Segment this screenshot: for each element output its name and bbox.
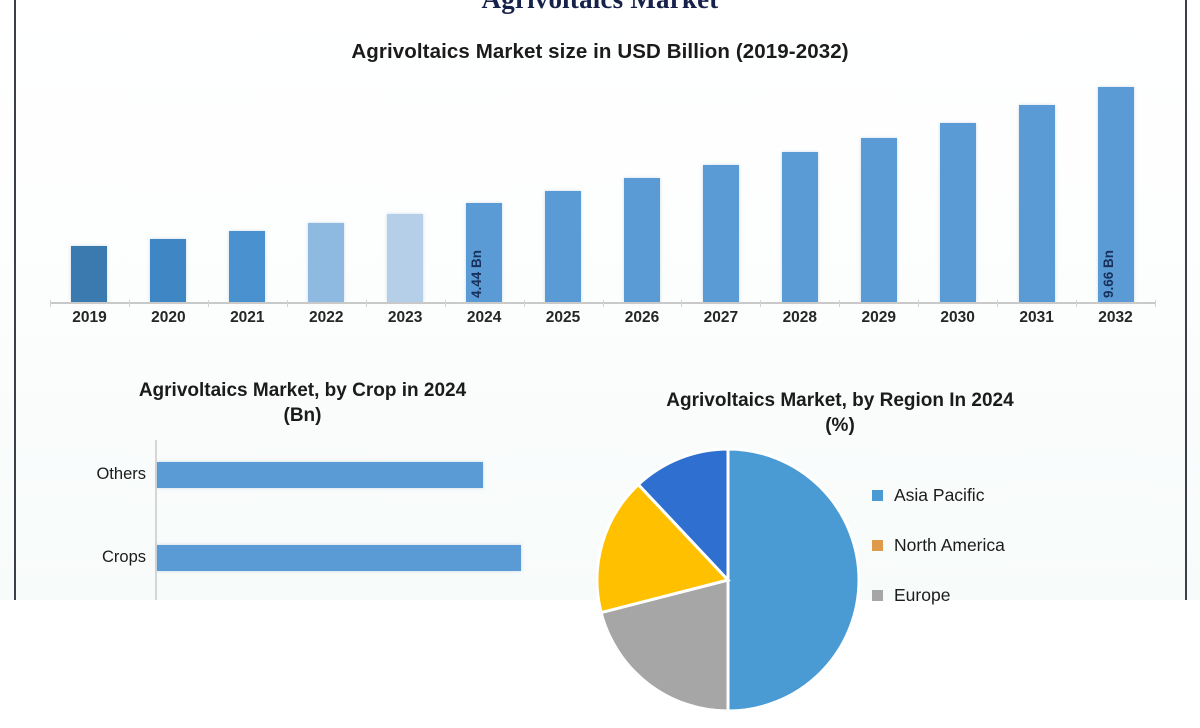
bar-2023 — [387, 214, 423, 302]
bar-2020 — [150, 239, 186, 302]
x-axis-tick — [366, 300, 367, 307]
x-tick-label-2028: 2028 — [760, 309, 839, 327]
bar-value-label-2024: 4.44 Bn — [469, 250, 484, 298]
legend-swatch-icon — [872, 540, 883, 551]
x-axis-tick — [760, 300, 761, 307]
x-tick-label-2032: 2032 — [1076, 309, 1155, 327]
legend-item-asia-pacific[interactable]: Asia Pacific — [872, 485, 984, 506]
bar-chart-title: Agrivoltaics Market size in USD Billion … — [0, 40, 1200, 64]
x-tick-label-2026: 2026 — [603, 309, 682, 327]
bar-2027 — [703, 165, 739, 302]
bar-2030 — [940, 123, 976, 302]
region-chart-title-line2: (%) — [560, 413, 1120, 438]
legend-label: North America — [894, 535, 1005, 556]
bar-2029 — [861, 138, 897, 302]
right-border-rule — [1185, 0, 1187, 600]
pie-slice-asia-pacific — [728, 449, 859, 711]
x-tick-label-2019: 2019 — [50, 309, 129, 327]
x-axis-tick — [681, 300, 682, 307]
crop-chart-title-line1: Agrivoltaics Market, by Crop in 2024 — [30, 378, 575, 403]
x-tick-label-2024: 2024 — [445, 309, 524, 327]
left-border-rule — [14, 0, 16, 600]
crop-chart-title-line2: (Bn) — [30, 403, 575, 428]
x-axis-tick — [997, 300, 998, 307]
region-chart-title: Agrivoltaics Market, by Region In 2024 (… — [560, 388, 1120, 438]
x-axis-tick — [287, 300, 288, 307]
x-axis-tick — [603, 300, 604, 307]
x-axis-tick — [208, 300, 209, 307]
x-axis-tick — [524, 300, 525, 307]
crop-category-label-others: Others — [30, 465, 146, 484]
x-axis-tick — [1155, 300, 1156, 307]
x-axis-tick — [129, 300, 130, 307]
bar-2032: 9.66 Bn — [1098, 87, 1134, 302]
crop-bar-others — [157, 462, 483, 488]
bar-2026 — [624, 178, 660, 302]
x-axis-tick — [918, 300, 919, 307]
legend-label: Europe — [894, 585, 950, 606]
crop-chart-plot-area: OthersCrops — [30, 440, 575, 600]
crop-bar-crops — [157, 545, 521, 571]
x-axis-tick — [50, 300, 51, 307]
x-tick-label-2030: 2030 — [918, 309, 997, 327]
bar-value-label-2032: 9.66 Bn — [1101, 250, 1116, 298]
bar-2028 — [782, 152, 818, 302]
infographic-canvas: Agrivoltaics Market Agrivoltaics Market … — [0, 0, 1200, 600]
legend-swatch-icon — [872, 590, 883, 601]
legend-item-north-america[interactable]: North America — [872, 535, 1005, 556]
bar-2021 — [229, 231, 265, 302]
crop-category-label-crops: Crops — [30, 548, 146, 567]
x-tick-label-2023: 2023 — [366, 309, 445, 327]
bar-2025 — [545, 191, 581, 302]
bar-chart-x-tick-labels: 2019202020212022202320242025202620272028… — [50, 309, 1155, 335]
x-axis-tick — [445, 300, 446, 307]
x-tick-label-2031: 2031 — [997, 309, 1076, 327]
bar-chart-plot-area: 4.44 Bn9.66 Bn — [50, 66, 1155, 302]
x-tick-label-2027: 2027 — [681, 309, 760, 327]
region-pie-wrapper — [596, 448, 876, 728]
x-tick-label-2021: 2021 — [208, 309, 287, 327]
x-tick-label-2020: 2020 — [129, 309, 208, 327]
legend-item-europe[interactable]: Europe — [872, 585, 950, 606]
legend-swatch-icon — [872, 490, 883, 501]
x-tick-label-2022: 2022 — [287, 309, 366, 327]
page-title: Agrivoltaics Market — [0, 0, 1200, 15]
region-pie-chart — [596, 448, 860, 712]
bar-2019 — [71, 246, 107, 302]
x-tick-label-2029: 2029 — [839, 309, 918, 327]
legend-label: Asia Pacific — [894, 485, 984, 506]
bar-2024: 4.44 Bn — [466, 203, 502, 302]
x-axis-tick — [1076, 300, 1077, 307]
x-tick-label-2025: 2025 — [524, 309, 603, 327]
bar-chart-tick-row — [50, 300, 1155, 308]
bar-2031 — [1019, 105, 1055, 302]
bar-2022 — [308, 223, 344, 302]
crop-chart-title: Agrivoltaics Market, by Crop in 2024 (Bn… — [30, 378, 575, 428]
region-chart-title-line1: Agrivoltaics Market, by Region In 2024 — [560, 388, 1120, 413]
x-axis-tick — [839, 300, 840, 307]
